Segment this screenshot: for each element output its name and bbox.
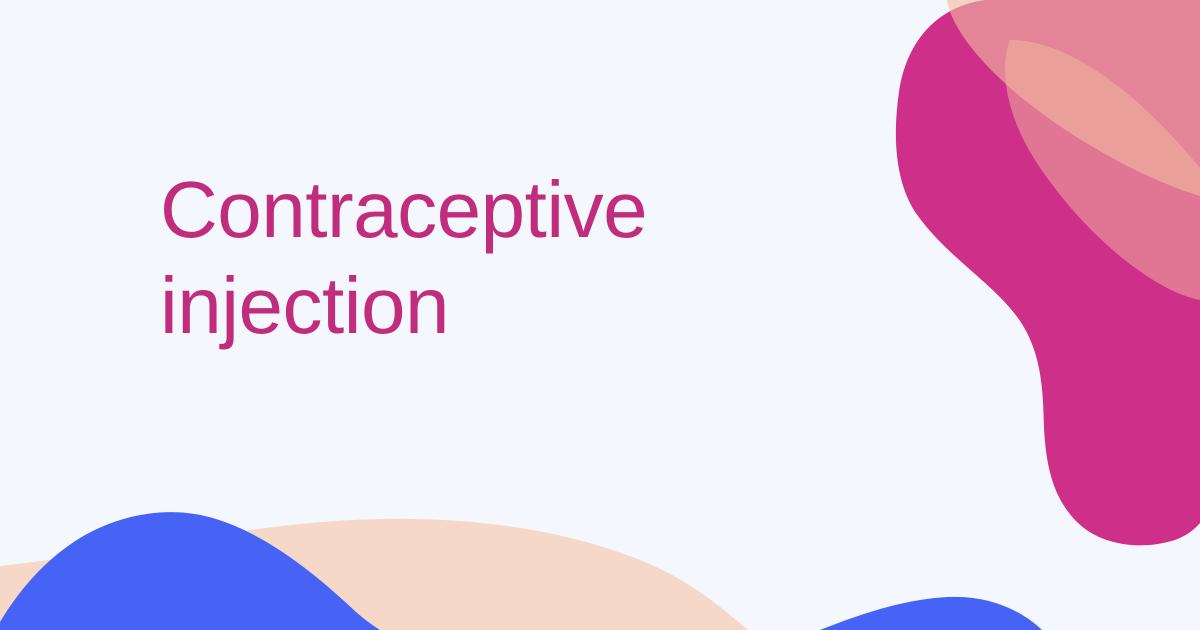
share-card-canvas: Contraceptive injection xyxy=(0,0,1200,630)
title-block: Contraceptive injection xyxy=(160,162,880,354)
page-title: Contraceptive injection xyxy=(160,162,880,354)
